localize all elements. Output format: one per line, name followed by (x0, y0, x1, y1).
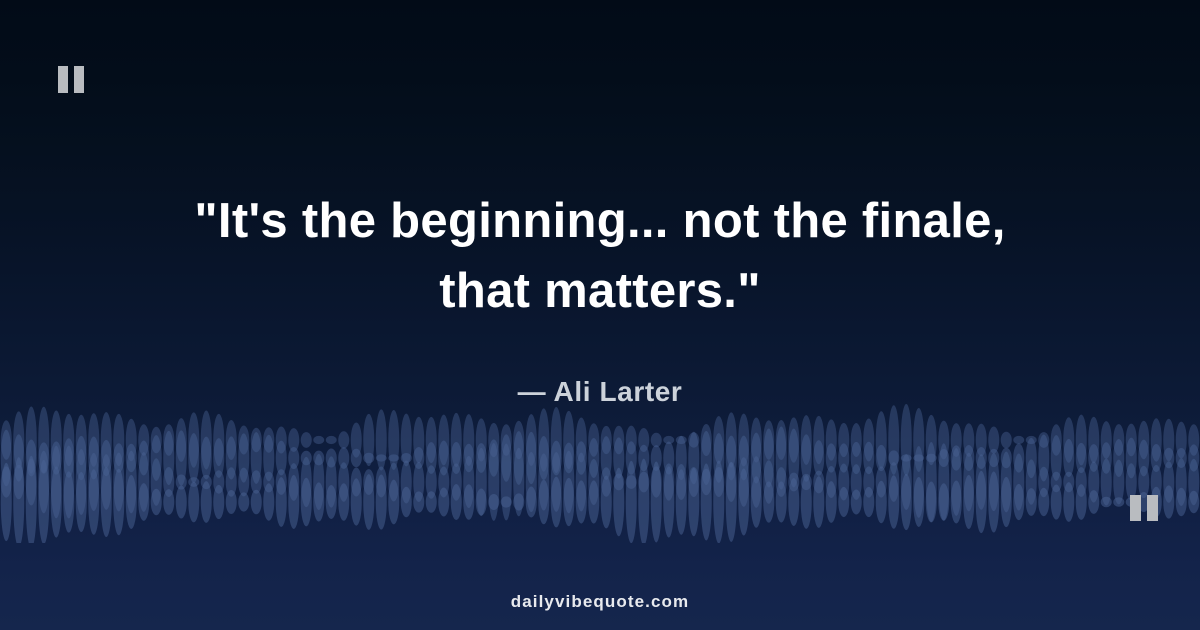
quote-text: "It's the beginning... not the finale,th… (0, 186, 1200, 326)
quote-author: — Ali Larter (518, 376, 683, 408)
quote-content: "It's the beginning... not the finale,th… (0, 0, 1200, 630)
site-footer: dailyvibequote.com (0, 592, 1200, 612)
site-url: dailyvibequote.com (511, 592, 690, 611)
quote-card: "It's the beginning... not the finale,th… (0, 0, 1200, 630)
